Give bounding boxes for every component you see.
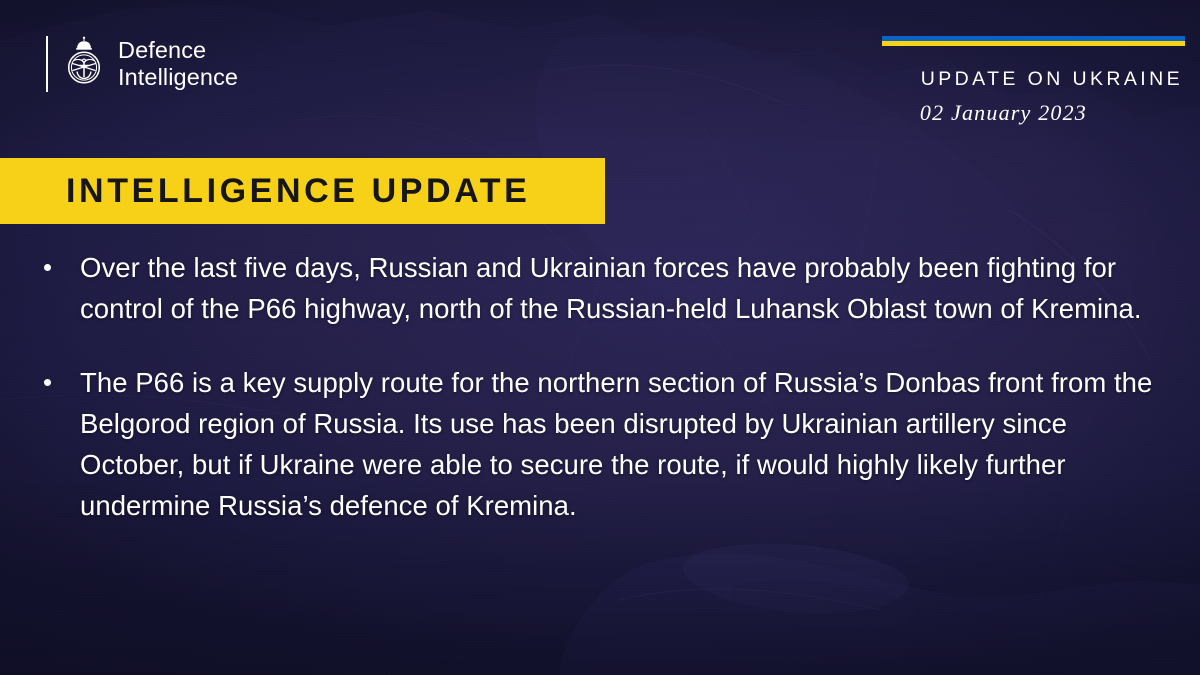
update-header-right: UPDATE ON UKRAINE 02 January 2023 <box>865 36 1185 126</box>
bullet-paragraph-2: The P66 is a key supply route for the no… <box>80 362 1159 526</box>
defence-intelligence-logo: Defence Intelligence <box>46 36 238 92</box>
list-item: Over the last five days, Russian and Ukr… <box>44 247 1159 329</box>
logo-line-defence: Defence <box>118 37 238 64</box>
bullet-paragraph-1: Over the last five days, Russian and Ukr… <box>80 247 1159 329</box>
defence-intelligence-crest-icon <box>61 36 107 92</box>
intelligence-update-poster: Defence Intelligence UPDATE ON UKRAINE 0… <box>0 0 1200 675</box>
update-date: 02 January 2023 <box>865 100 1185 126</box>
intelligence-update-banner: INTELLIGENCE UPDATE <box>0 158 605 224</box>
list-item: The P66 is a key supply route for the no… <box>44 362 1159 526</box>
update-on-ukraine-label: UPDATE ON UKRAINE <box>865 68 1185 91</box>
bullet-dot-icon <box>44 379 51 386</box>
logo-divider-rule <box>46 36 48 92</box>
logo-wordmark: Defence Intelligence <box>118 37 238 91</box>
banner-label: INTELLIGENCE UPDATE <box>0 172 530 211</box>
bullet-list: Over the last five days, Russian and Ukr… <box>44 247 1159 526</box>
logo-line-intelligence: Intelligence <box>118 64 238 91</box>
bullet-dot-icon <box>44 264 51 271</box>
ukraine-flag-bar <box>882 36 1185 46</box>
flag-stripe-yellow <box>882 41 1185 46</box>
